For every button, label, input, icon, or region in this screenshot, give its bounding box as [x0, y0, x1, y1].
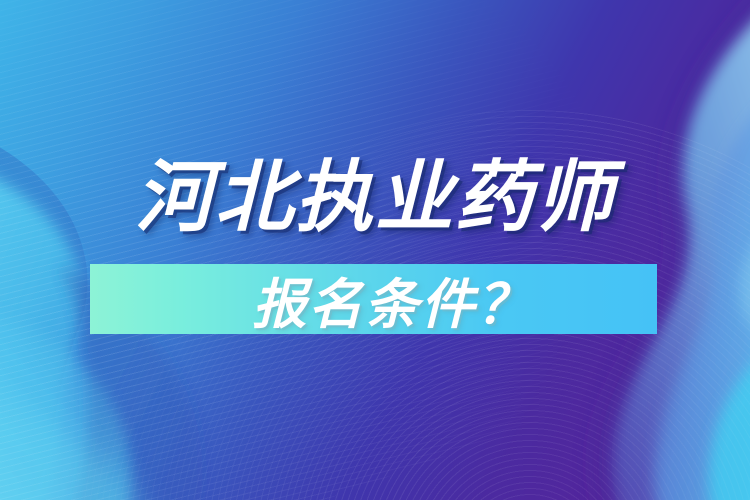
banner-content: 河北执业药师 报名条件？ [0, 0, 750, 500]
banner-subtitle: 报名条件？ [90, 264, 657, 334]
banner-headline: 河北执业药师 [0, 152, 750, 244]
promo-banner: 河北执业药师 报名条件？ [0, 0, 750, 500]
